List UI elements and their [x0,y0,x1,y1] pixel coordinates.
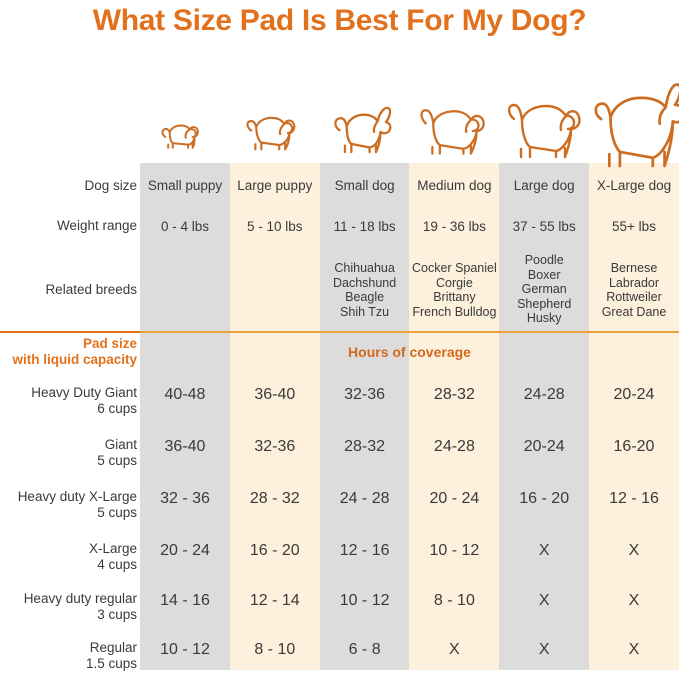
cell-hours-r1-c2: 36-40 [230,386,320,404]
cell-hours-r1-c4: 28-32 [409,386,499,404]
pad-capacity-1: 6 cups [97,401,137,416]
cell-dog-size-5: Large dog [499,178,589,194]
cell-dog-size-2: Large puppy [230,178,320,194]
cell-hours-r1-c5: 24-28 [499,386,589,404]
row-label-weight-range: Weight range [0,218,137,234]
row-label-dog-size: Dog size [0,178,137,194]
cell-hours-r6-c3: 6 - 8 [320,641,410,659]
cell-hours-r3-c3: 24 - 28 [320,490,410,508]
pad-capacity-4: 4 cups [97,557,137,572]
cell-hours-r3-c4: 20 - 24 [409,490,499,508]
cell-weight-range-6: 55+ lbs [589,219,679,235]
cell-hours-r6-c1: 10 - 12 [140,641,230,659]
cell-hours-r5-c4: 8 - 10 [409,592,499,610]
pad-capacity-6: 1.5 cups [86,656,137,671]
cell-hours-r3-c6: 12 - 16 [589,490,679,508]
cell-hours-r4-c5: X [499,542,589,560]
cell-hours-r5-c3: 10 - 12 [320,592,410,610]
pad-capacity-2: 5 cups [97,453,137,468]
cell-hours-r6-c5: X [499,641,589,659]
cell-hours-r6-c6: X [589,641,679,659]
cell-hours-r2-c3: 28-32 [320,438,410,456]
cell-dog-size-1: Small puppy [140,178,230,194]
cell-weight-range-5: 37 - 55 lbs [499,219,589,235]
cell-dog-size-4: Medium dog [409,178,499,194]
cell-hours-r3-c5: 16 - 20 [499,490,589,508]
cell-hours-r5-c5: X [499,592,589,610]
pad-capacity-5: 3 cups [97,607,137,622]
cell-hours-r4-c3: 12 - 16 [320,542,410,560]
pad-name-6: Regular [90,640,137,655]
cell-breeds-6: BerneseLabradorRottweilerGreat Dane [589,261,679,319]
cell-hours-r2-c1: 36-40 [140,438,230,456]
cell-weight-range-1: 0 - 4 lbs [140,219,230,235]
cell-breeds-3: ChihuahuaDachshundBeagleShih Tzu [320,261,410,319]
cell-hours-r3-c2: 28 - 32 [230,490,320,508]
cell-weight-range-3: 11 - 18 lbs [320,219,410,235]
pad-name-5: Heavy duty regular [24,591,137,606]
cell-hours-r4-c1: 20 - 24 [140,542,230,560]
pad-name-4: X-Large [89,541,137,556]
cell-dog-size-6: X-Large dog [589,178,679,194]
pad-name-2: Giant [105,437,137,452]
row-label-pad-2: Giant5 cups [0,437,137,468]
cell-hours-r4-c6: X [589,542,679,560]
cell-hours-r3-c1: 32 - 36 [140,490,230,508]
row-label-pad-5: Heavy duty regular3 cups [0,591,137,622]
cell-hours-r6-c4: X [409,641,499,659]
cell-hours-r2-c2: 32-36 [230,438,320,456]
pad-capacity-3: 5 cups [97,505,137,520]
row-label-pad-6: Regular1.5 cups [0,640,137,671]
row-label-pad-4: X-Large4 cups [0,541,137,572]
cell-hours-r2-c6: 16-20 [589,438,679,456]
cell-hours-r2-c5: 20-24 [499,438,589,456]
pad-size-chart: What Size Pad Is Best For My Dog? Pad si… [0,0,679,679]
cell-weight-range-2: 5 - 10 lbs [230,219,320,235]
row-label-related-breeds: Related breeds [0,282,137,298]
cell-weight-range-4: 19 - 36 lbs [409,219,499,235]
cell-breeds-5: PoodleBoxerGermanShepherdHusky [499,253,589,326]
cell-hours-r2-c4: 24-28 [409,438,499,456]
cell-hours-r1-c6: 20-24 [589,386,679,404]
row-label-pad-1: Heavy Duty Giant6 cups [0,385,137,416]
cell-hours-r5-c2: 12 - 14 [230,592,320,610]
cell-hours-r5-c6: X [589,592,679,610]
cell-hours-r4-c2: 16 - 20 [230,542,320,560]
pad-name-1: Heavy Duty Giant [31,385,137,400]
cell-dog-size-3: Small dog [320,178,410,194]
cell-hours-r1-c3: 32-36 [320,386,410,404]
row-label-pad-3: Heavy duty X-Large5 cups [0,489,137,520]
cell-breeds-4: Cocker SpanielCorgieBrittanyFrench Bulld… [409,261,499,319]
cell-hours-r5-c1: 14 - 16 [140,592,230,610]
table-grid: Dog sizeSmall puppyLarge puppySmall dogM… [0,0,679,679]
cell-hours-r1-c1: 40-48 [140,386,230,404]
pad-name-3: Heavy duty X-Large [18,489,137,504]
cell-hours-r4-c4: 10 - 12 [409,542,499,560]
cell-hours-r6-c2: 8 - 10 [230,641,320,659]
